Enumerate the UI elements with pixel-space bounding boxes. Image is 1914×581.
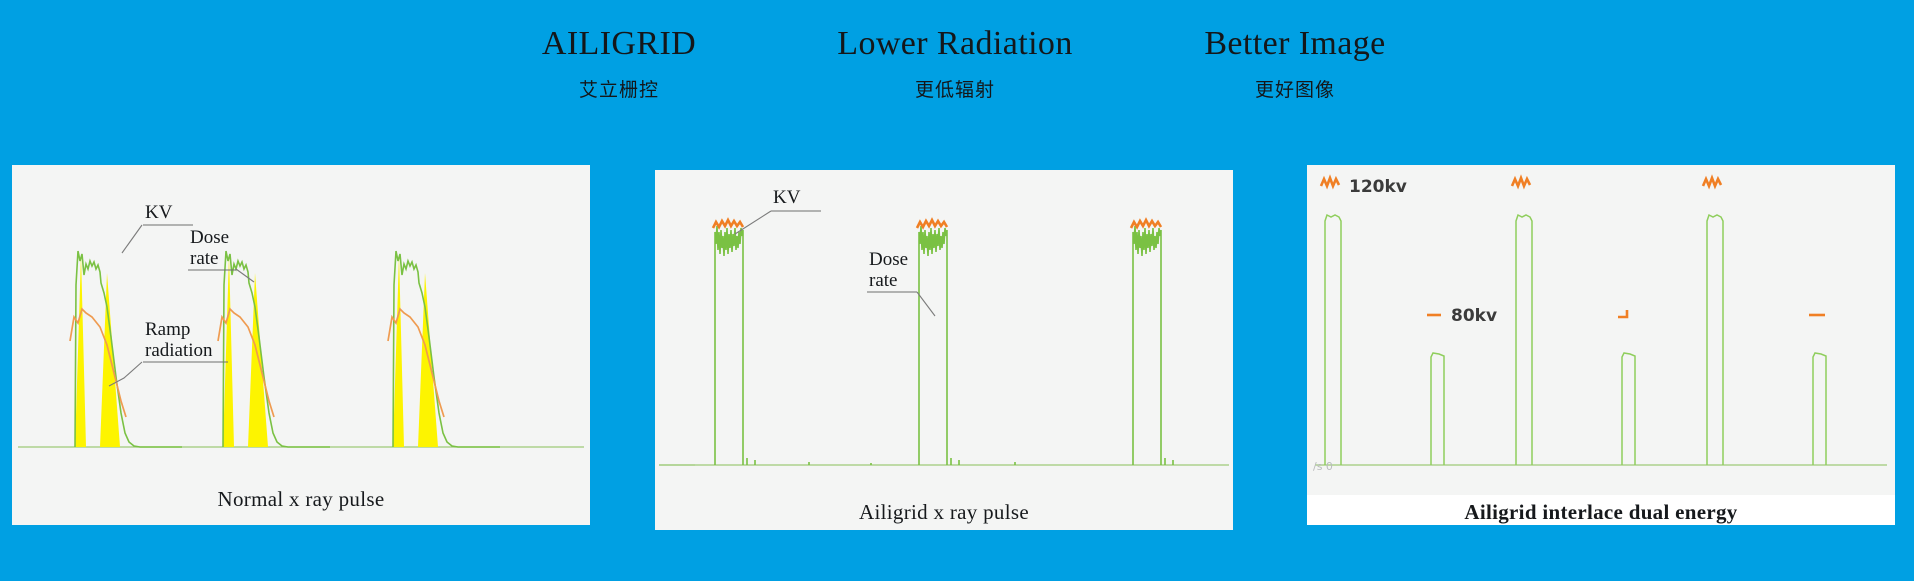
pulse-80kv-1: [1431, 353, 1444, 465]
kv-marker-80kv-2: [1618, 310, 1627, 317]
axis-zero-label: /s 0: [1313, 460, 1333, 473]
dose-rate-curve-2: [223, 251, 330, 447]
pulse-80kv-3: [1813, 353, 1826, 465]
pulse-120kv-3: [1707, 215, 1723, 465]
dose-rate-curve-3: [393, 251, 500, 447]
header-column-ailigrid: AILIGRID 艾立栅控: [469, 26, 769, 102]
kv-marker-120kv-3: [1703, 178, 1721, 186]
annotation-dose-rate-line1: Dose: [869, 249, 908, 270]
kv-cap-3: [1131, 220, 1161, 228]
panel-row: KV Dose rate Ramp radiation Normal x ray…: [0, 165, 1914, 527]
pulse-120kv-1: [1325, 215, 1341, 465]
kv-marker-120kv-2: [1512, 178, 1530, 186]
dose-rate-pulse-2: [919, 226, 947, 465]
annotation-kv-label: KV: [773, 187, 801, 208]
header-title-cn-1: 艾立栅控: [579, 75, 659, 102]
annotation-ramp-radiation-line1: Ramp: [145, 319, 190, 340]
annotation-kv-label: KV: [145, 202, 173, 223]
chart-panel-normal-x-ray-pulse: KV Dose rate Ramp radiation Normal x ray…: [12, 165, 590, 525]
header-title-cn-3: 更好图像: [1255, 75, 1335, 102]
label-80kv: 80kv: [1451, 306, 1497, 326]
kv-marker-120kv-1: [1321, 178, 1339, 186]
header-title-cn-2: 更低辐射: [915, 75, 995, 102]
annotation-dose-rate-line1: Dose: [190, 227, 229, 248]
annotation-ramp-radiation-line2: radiation: [145, 340, 213, 361]
panel-caption-dual-energy: Ailigrid interlace dual energy: [1307, 500, 1895, 525]
annotation-dose-rate-line2: rate: [869, 270, 897, 291]
pulse-80kv-2: [1622, 353, 1635, 465]
chart-panel-interlace-dual-energy: 120kv 80kv /s 0 Ailigrid interlace dual …: [1307, 165, 1895, 525]
header-title-en-2: Lower Radiation: [837, 26, 1072, 62]
plot-interlace-dual-energy: 120kv 80kv /s 0: [1307, 165, 1895, 495]
header-banner: AILIGRID 艾立栅控 Lower Radiation 更低辐射 Bette…: [0, 26, 1914, 136]
header-column-better-image: Better Image 更好图像: [1145, 26, 1445, 102]
dose-rate-pulse-3: [1133, 226, 1161, 465]
plot-ailigrid-x-ray-pulse: KV Dose rate: [655, 170, 1233, 495]
header-title-en-3: Better Image: [1204, 26, 1385, 62]
label-120kv: 120kv: [1349, 177, 1407, 197]
dose-rate-pulse-1: [715, 226, 743, 465]
panel-caption-ailigrid: Ailigrid x ray pulse: [655, 500, 1233, 525]
plot-normal-x-ray-pulse: KV Dose rate Ramp radiation: [12, 165, 590, 485]
chart-panel-ailigrid-x-ray-pulse: KV Dose rate Ailigrid x ray pulse: [655, 170, 1233, 530]
kv-cap-1: [713, 220, 743, 228]
annotation-dose-rate-line2: rate: [190, 248, 218, 269]
kv-cap-2: [917, 220, 947, 228]
header-column-lower-radiation: Lower Radiation 更低辐射: [805, 26, 1105, 102]
header-title-en-1: AILIGRID: [542, 26, 696, 62]
panel-caption-normal: Normal x ray pulse: [12, 487, 590, 512]
pulse-120kv-2: [1516, 215, 1532, 465]
